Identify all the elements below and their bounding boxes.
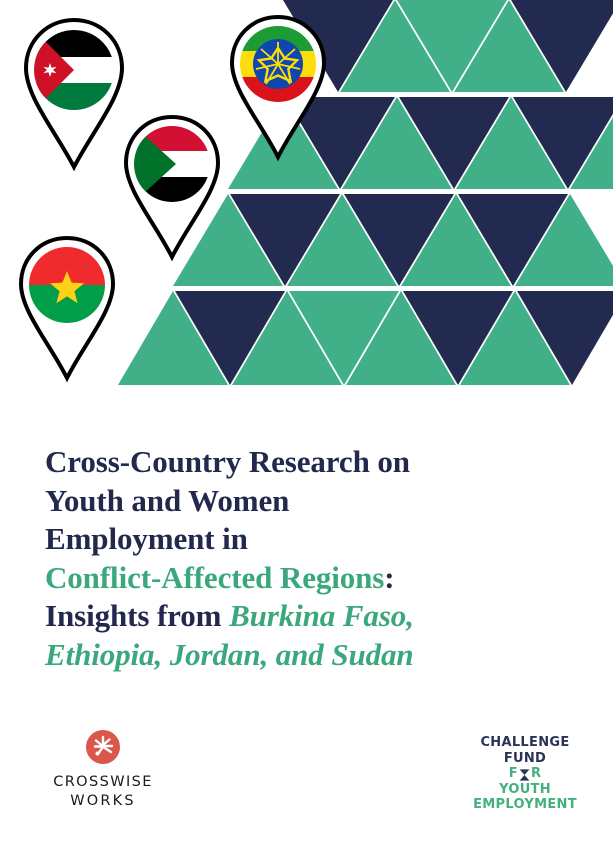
title-line-2: Youth and Women (45, 483, 289, 518)
title-line-1: Cross-Country Research on (45, 444, 410, 479)
title-countries-part-1: Burkina Faso, (229, 598, 414, 633)
title-heading: Cross-Country Research on Youth and Wome… (45, 443, 545, 674)
flag-jordan (34, 30, 114, 110)
pattern-row-3 (173, 194, 613, 286)
title-colon: : (384, 560, 394, 595)
crosswise-wordmark-line-1: CROSSWISE (27, 773, 179, 792)
title-line-3: Employment in (45, 521, 248, 556)
crosswise-starburst-icon (86, 730, 120, 764)
title-line-4-highlight: Conflict-Affected Regions (45, 560, 384, 595)
hourglass-icon (519, 769, 530, 781)
crosswise-works-logo: CROSSWISE WORKS (27, 730, 179, 811)
report-cover-page: Cross-Country Research on Youth and Wome… (0, 0, 613, 867)
map-pin-burkina-faso (15, 233, 119, 385)
cfye-line-youth: YOUTH (455, 782, 595, 798)
map-pin-jordan (18, 15, 130, 175)
cfye-line-employment: EMPLOYMENT (455, 797, 595, 813)
cfye-line-fund: FUND (455, 751, 595, 767)
map-pin-sudan (120, 112, 224, 264)
page-title: Cross-Country Research on Youth and Wome… (45, 443, 545, 674)
cfye-line-for: F R (455, 766, 595, 782)
cfye-for-f: F (509, 766, 518, 782)
map-pin-ethiopia (226, 12, 330, 164)
title-line-5: Insights from (45, 598, 229, 633)
cfye-for-r: R (531, 766, 541, 782)
pattern-row-1 (283, 0, 613, 92)
cfye-line-challenge: CHALLENGE (455, 735, 595, 751)
title-countries-part-2: Ethiopia, Jordan, and Sudan (45, 637, 414, 672)
pattern-row-4 (118, 291, 613, 385)
crosswise-wordmark-line-2: WORKS (27, 792, 179, 811)
challenge-fund-logo: CHALLENGE FUND F R YOUTH EMPLOYMENT (455, 735, 595, 813)
